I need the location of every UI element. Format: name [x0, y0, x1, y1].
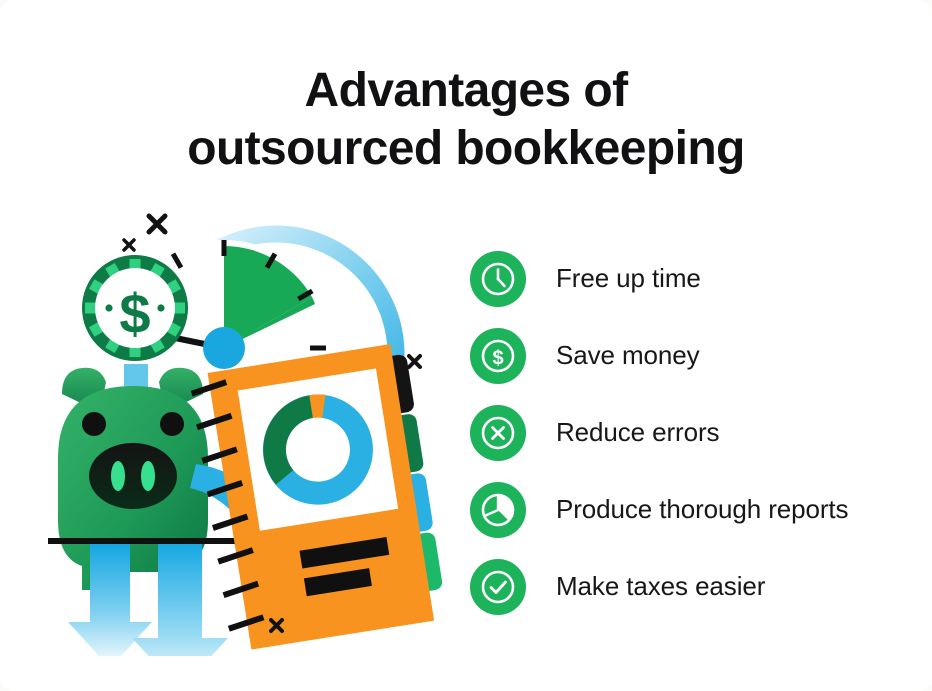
benefit-item-produce-thorough-reports[interactable]: Produce thorough reports	[470, 471, 910, 548]
benefit-label: Free up time	[556, 263, 701, 294]
benefit-label: Make taxes easier	[556, 571, 765, 602]
svg-text:$: $	[492, 347, 503, 369]
benefit-label: Reduce errors	[556, 417, 719, 448]
clock-icon	[470, 251, 526, 307]
svg-text:$: $	[119, 282, 150, 345]
piggy-bank-clock-notebook-illustration: $	[28, 196, 458, 656]
benefits-list: Free up time $ Save money	[470, 240, 910, 625]
dollar-icon: $	[470, 328, 526, 384]
benefit-item-reduce-errors[interactable]: Reduce errors	[470, 394, 910, 471]
benefit-item-make-taxes-easier[interactable]: Make taxes easier	[470, 548, 910, 625]
benefit-item-free-up-time[interactable]: Free up time	[470, 240, 910, 317]
benefit-item-save-money[interactable]: $ Save money	[470, 317, 910, 394]
x-circle-icon	[470, 405, 526, 461]
notebook-with-donut-chart	[189, 342, 448, 653]
page-title: Advantages of outsourced bookkeeping	[0, 62, 932, 178]
dollar-coin: $	[82, 255, 188, 361]
benefit-label: Produce thorough reports	[556, 494, 848, 525]
pie-chart-icon	[470, 482, 526, 538]
infographic-page: Advantages of outsourced bookkeeping	[0, 0, 932, 691]
title-line-2: outsourced bookkeeping	[0, 120, 932, 178]
title-line-1: Advantages of	[0, 62, 932, 120]
check-icon	[470, 559, 526, 615]
infographic-card: Advantages of outsourced bookkeeping	[0, 0, 932, 691]
benefit-label: Save money	[556, 340, 700, 371]
